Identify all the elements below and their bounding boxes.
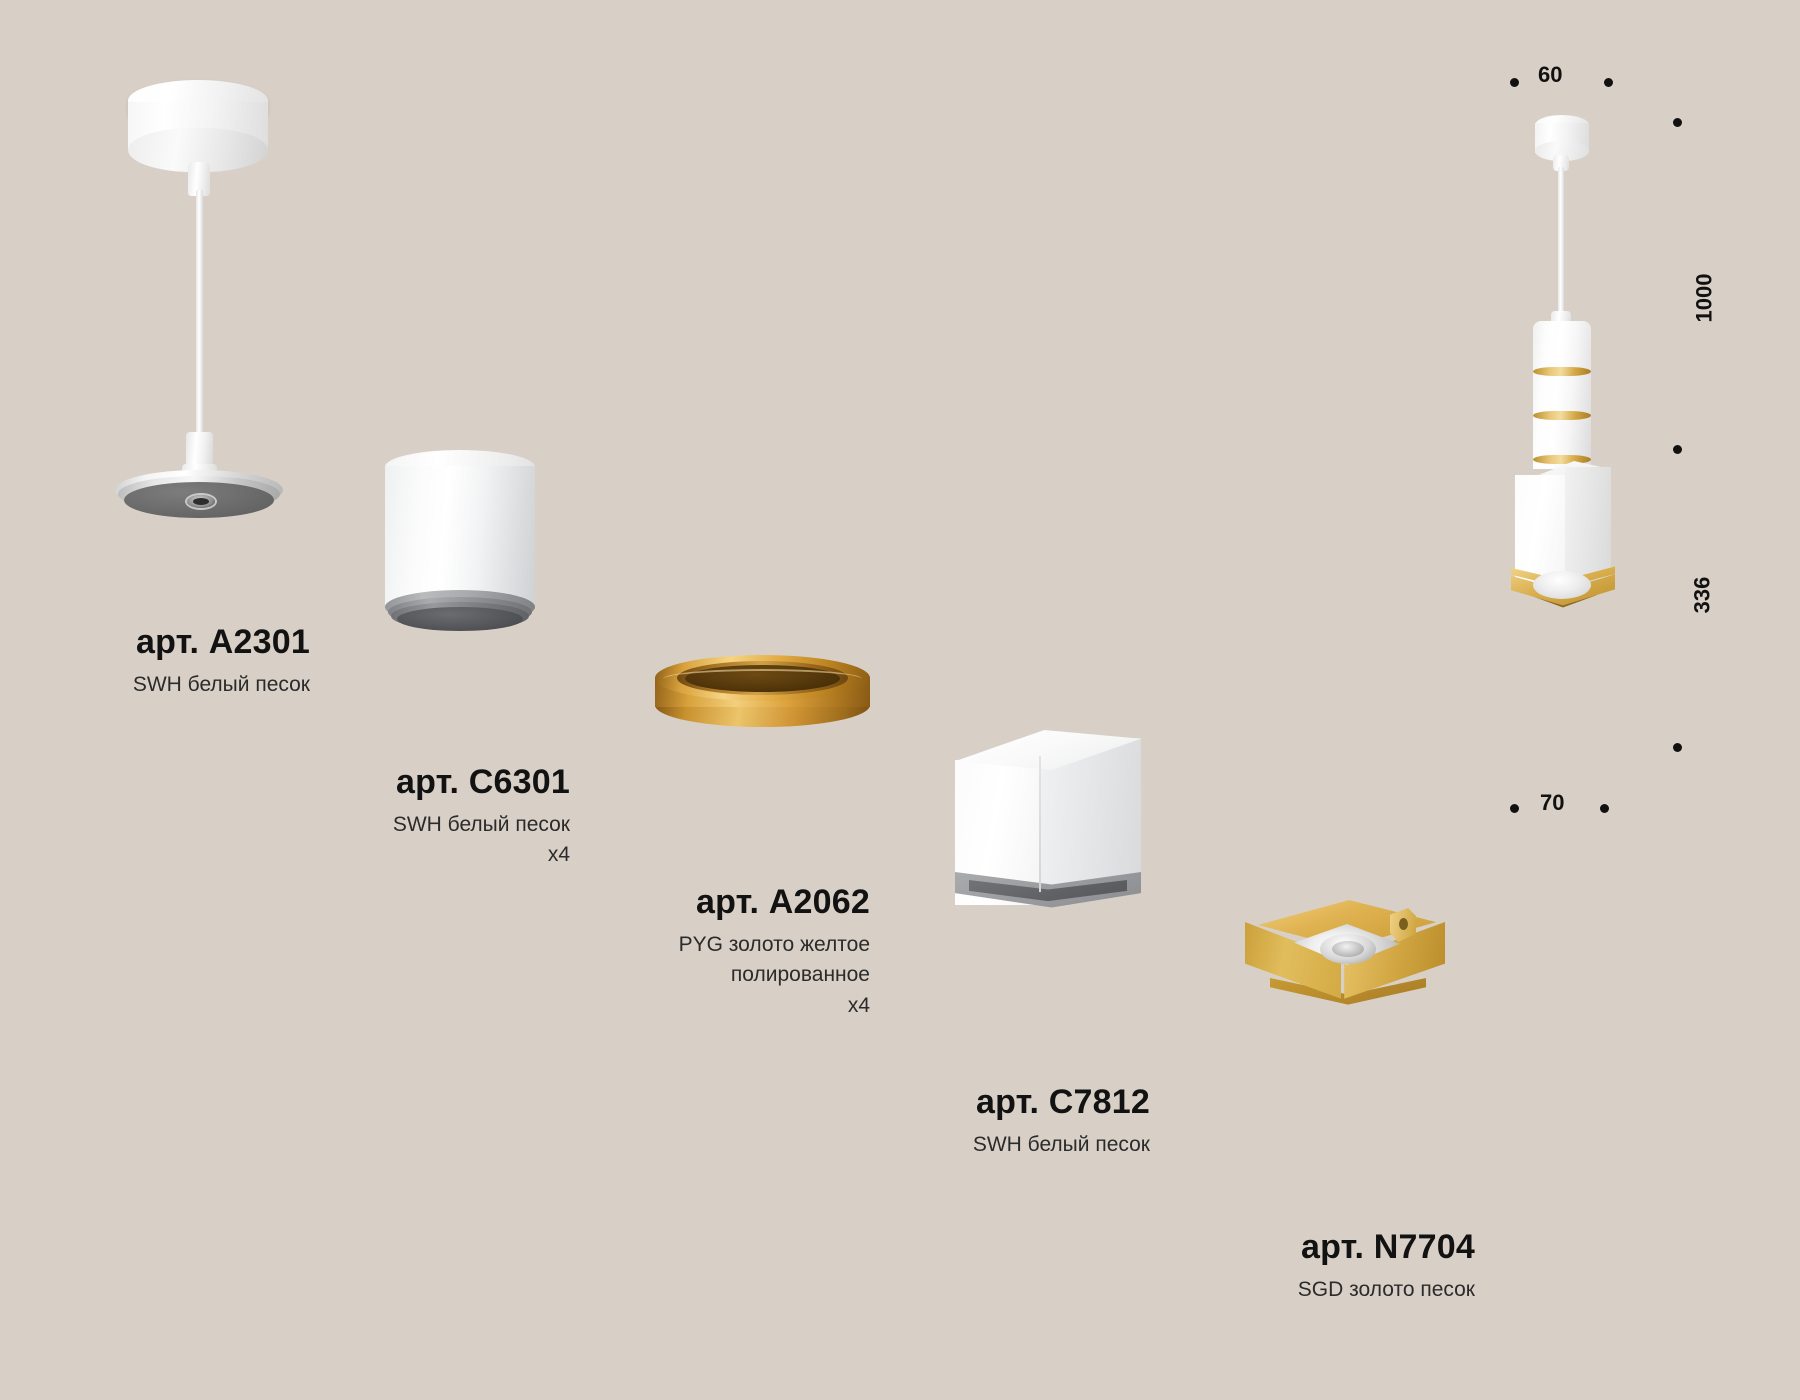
- dim-dot-body-end: [1673, 743, 1682, 752]
- pendant-tube-body: [1533, 321, 1591, 469]
- ring-groove-highlight: [663, 669, 862, 689]
- pendant-gold-ring-1: [1533, 367, 1591, 376]
- label-a2301: арт. A2301 SWH белый песок: [60, 625, 310, 700]
- art-code-c6301: арт. C6301: [310, 765, 570, 801]
- dim-dot-top-left: [1510, 78, 1519, 87]
- product-exploded-diagram: арт. A2301 SWH белый песок арт. C6301 SW…: [0, 0, 1800, 1400]
- label-c6301: арт. C6301 SWH белый песок x4: [310, 765, 570, 871]
- finish-n7704: SGD золото песок: [1210, 1275, 1475, 1305]
- dim-body-height: 336: [1689, 577, 1715, 614]
- square-vertical-edge: [1039, 756, 1041, 892]
- finish-c7812: SWH белый песок: [890, 1130, 1150, 1160]
- label-n7704: арт. N7704 SGD золото песок: [1210, 1230, 1475, 1305]
- assembled-pendant-lamp: [1495, 115, 1675, 795]
- component-image-c7812: [955, 730, 1150, 925]
- mounting-clip-hole: [1399, 918, 1408, 930]
- cylinder-body: [385, 466, 535, 606]
- suspension-rod: [196, 190, 203, 440]
- finish-a2062-line2: полированное: [600, 960, 870, 990]
- art-code-a2062: арт. A2062: [600, 885, 870, 921]
- dim-dot-drop-start: [1673, 118, 1682, 127]
- pendant-gold-ring-3: [1533, 455, 1591, 464]
- dim-dot-bottom-left: [1510, 804, 1519, 813]
- qty-c6301: x4: [310, 840, 570, 870]
- art-code-c7812: арт. C7812: [890, 1085, 1150, 1121]
- component-image-c6301: [385, 450, 535, 635]
- finish-c6301: SWH белый песок: [310, 810, 570, 840]
- dim-drop-length: 1000: [1691, 274, 1717, 323]
- dim-dot-drop-end: [1673, 445, 1682, 454]
- component-image-n7704: [1240, 900, 1455, 1035]
- label-c7812: арт. C7812 SWH белый песок: [890, 1085, 1150, 1160]
- finish-a2062-line1: PYG золото желтое: [600, 930, 870, 960]
- label-a2062: арт. A2062 PYG золото желтое полированно…: [600, 885, 870, 1021]
- component-image-a2062: [655, 655, 870, 730]
- dim-dot-top-right: [1604, 78, 1613, 87]
- art-code-a2301: арт. A2301: [60, 625, 310, 661]
- cylinder-cavity: [397, 607, 523, 631]
- dim-width-bottom: 70: [1540, 790, 1564, 816]
- dim-dot-bottom-right: [1600, 804, 1609, 813]
- pendant-square-right: [1565, 467, 1611, 579]
- pendant-gold-ring-2: [1533, 411, 1591, 420]
- component-image-a2301: [110, 80, 340, 530]
- pendant-lens: [1533, 571, 1591, 599]
- pendant-square-left: [1515, 475, 1567, 583]
- art-code-n7704: арт. N7704: [1210, 1230, 1475, 1266]
- qty-a2062: x4: [600, 991, 870, 1021]
- finish-a2301: SWH белый песок: [60, 670, 310, 700]
- lens-inner: [1332, 941, 1364, 957]
- pendant-rod: [1558, 167, 1564, 317]
- disc-center-hole-inner: [193, 498, 209, 505]
- dim-width-top: 60: [1538, 62, 1562, 88]
